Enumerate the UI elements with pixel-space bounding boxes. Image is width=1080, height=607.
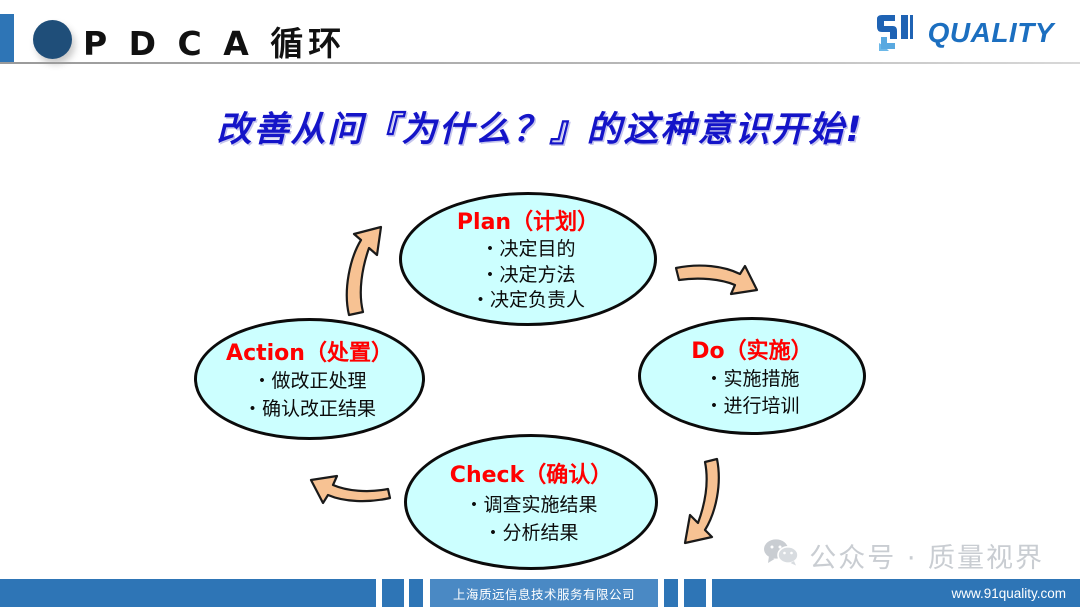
pdca-node-action[interactable]: Action（处置） ・做改正处理 ・确认改正结果 (194, 318, 425, 440)
footer-bar-segment (0, 579, 376, 607)
pdca-node-action-title: Action（处置） (226, 335, 393, 367)
arrow-check-to-action (311, 476, 390, 503)
pdca-node-check-title: Check（确认） (450, 457, 612, 489)
pdca-node-plan-title: Plan（计划） (457, 204, 599, 236)
pdca-node-action-item: ・确认改正结果 (243, 396, 376, 424)
arrow-action-to-plan (347, 227, 381, 315)
header-divider (0, 62, 1080, 64)
pdca-node-check-item: ・调查实施结果 (464, 491, 597, 520)
blue-accent-bar-icon (0, 14, 14, 62)
footer-bar-segment (382, 579, 404, 607)
pdca-node-do-item: ・实施措施 (704, 366, 799, 393)
slide-main-title: 改善从问『为什么？』的这种意识开始! (0, 101, 1080, 152)
wechat-watermark-text: 公众号 · 质量视界 (809, 536, 1044, 575)
pdca-node-action-item: ・做改正处理 (252, 368, 366, 396)
slide-header: P D C A 循环 QUALITY (0, 0, 1080, 70)
pdca-node-check-item: ・分析结果 (483, 519, 578, 548)
pdca-node-plan-item: ・决定负责人 (471, 288, 585, 314)
pdca-node-plan[interactable]: Plan（计划） ・决定目的 ・决定方法 ・决定负责人 (399, 192, 657, 326)
pdca-node-plan-item: ・决定方法 (480, 263, 575, 289)
slide-footer: 上海质远信息技术服务有限公司 www.91quality.com (0, 579, 1080, 607)
pdca-node-do[interactable]: Do（实施） ・实施措施 ・进行培训 (638, 317, 866, 435)
footer-company-name: 上海质远信息技术服务有限公司 (430, 579, 658, 607)
arrow-do-to-check (685, 459, 719, 543)
91-logo-mark-icon (873, 13, 921, 53)
navy-circle-icon (33, 20, 72, 59)
wechat-watermark: 公众号 · 质量视界 (763, 536, 1044, 575)
pdca-node-plan-item: ・决定目的 (480, 237, 575, 263)
page-title: P D C A 循环 (83, 17, 346, 65)
footer-bar-segment (664, 579, 678, 607)
wechat-icon (763, 538, 799, 573)
pdca-node-do-item: ・进行培训 (704, 393, 799, 420)
arrow-plan-to-do (676, 266, 757, 294)
footer-website-url[interactable]: www.91quality.com (951, 579, 1066, 607)
footer-bar-segment (684, 579, 706, 607)
pdca-node-check[interactable]: Check（确认） ・调查实施结果 ・分析结果 (404, 434, 658, 570)
pdca-node-do-title: Do（实施） (691, 333, 812, 365)
brand-logo: QUALITY (873, 11, 1054, 55)
logo-wordmark: QUALITY (928, 17, 1054, 49)
footer-bar-segment (409, 579, 423, 607)
